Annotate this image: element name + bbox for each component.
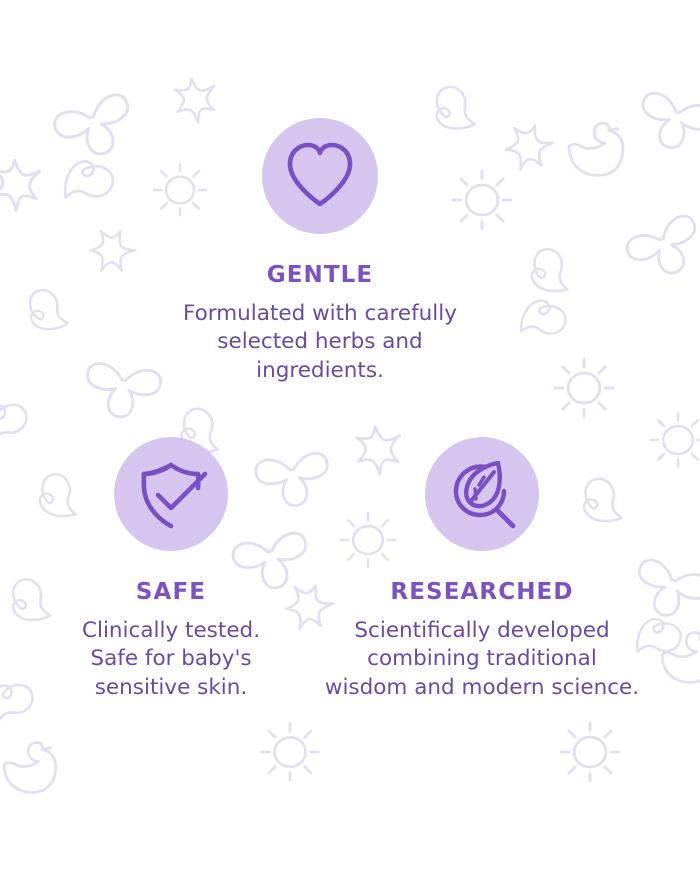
heart-icon	[280, 136, 360, 216]
researched-body-line-3: wisdom and modern science.	[306, 674, 658, 702]
researched-body-line-1: Scientifically developed	[306, 617, 658, 645]
feature-safe: SAFE Clinically tested. Safe for baby's …	[36, 437, 306, 702]
leaf-magnifier-icon	[442, 454, 522, 534]
gentle-heading: GENTLE	[120, 264, 520, 287]
gentle-body-line-3: ingredients.	[120, 357, 520, 385]
safe-body: Clinically tested. Safe for baby's sensi…	[36, 617, 306, 702]
shield-check-icon	[131, 454, 211, 534]
safe-body-line-2: Safe for baby's	[36, 645, 306, 673]
safe-icon-circle	[114, 437, 228, 551]
researched-heading: RESEARCHED	[306, 581, 658, 604]
gentle-body-line-2: selected herbs and	[120, 328, 520, 356]
gentle-body: Formulated with carefully selected herbs…	[120, 300, 520, 385]
gentle-body-line-1: Formulated with carefully	[120, 300, 520, 328]
researched-body-line-2: combining traditional	[306, 645, 658, 673]
feature-highlights-panel: GENTLE Formulated with carefully selecte…	[0, 0, 700, 875]
researched-icon-circle	[425, 437, 539, 551]
researched-body: Scientifically developed combining tradi…	[306, 617, 658, 702]
safe-heading: SAFE	[36, 581, 306, 604]
feature-researched: RESEARCHED Scientifically developed comb…	[306, 437, 658, 702]
safe-body-line-1: Clinically tested.	[36, 617, 306, 645]
gentle-icon-circle	[262, 118, 378, 234]
safe-body-line-3: sensitive skin.	[36, 674, 306, 702]
feature-gentle: GENTLE Formulated with carefully selecte…	[120, 118, 520, 385]
